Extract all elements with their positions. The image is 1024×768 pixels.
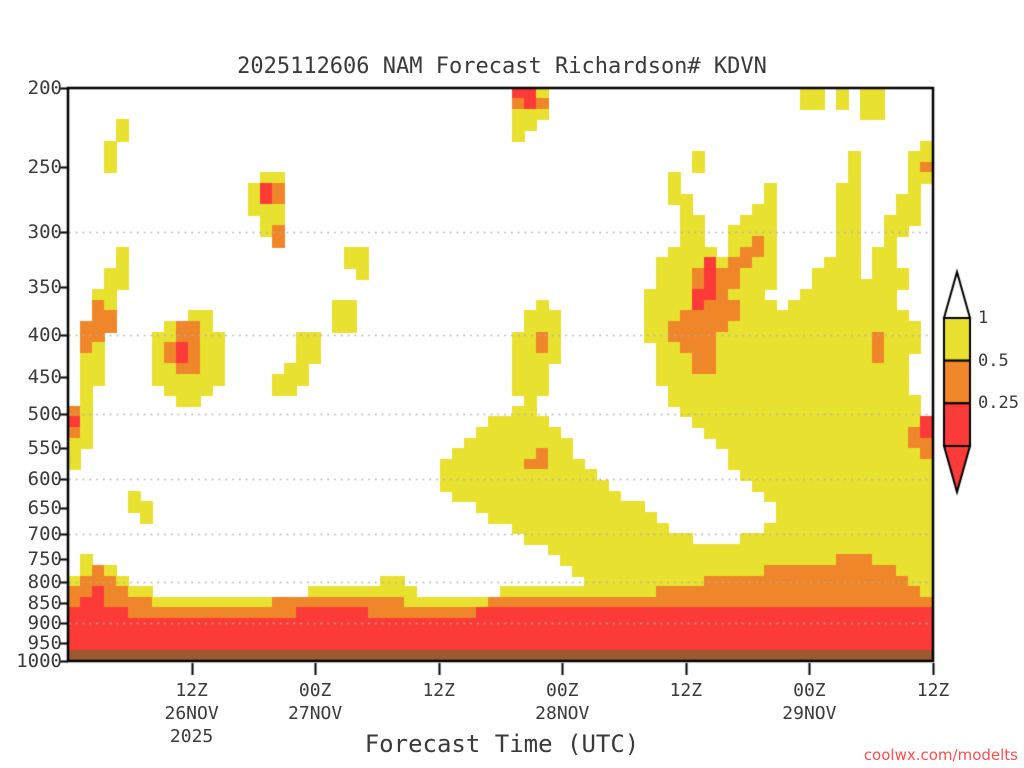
x-axis-tick-line: 29NOV bbox=[729, 702, 889, 725]
page-title: 2025112606 NAM Forecast Richardson# KDVN bbox=[0, 54, 1004, 79]
x-axis-tick-line: 2025 bbox=[112, 725, 272, 748]
watermark-link[interactable]: coolwx.com/modelts bbox=[864, 746, 1018, 764]
richardson-number-heatmap-canvas bbox=[0, 0, 1024, 768]
y-axis-tick-label: 400 bbox=[0, 324, 62, 346]
x-axis-tick-line: 27NOV bbox=[235, 702, 395, 725]
y-axis-tick-label: 850 bbox=[0, 592, 62, 614]
y-axis-tick-label: 350 bbox=[0, 276, 62, 298]
x-axis-tick-line: 12Z bbox=[853, 679, 1013, 702]
chart-page: 2025112606 NAM Forecast Richardson# KDVN… bbox=[0, 0, 1024, 768]
colorbar-tick-label: 0.25 bbox=[978, 393, 1019, 413]
y-axis-tick-label: 600 bbox=[0, 468, 62, 490]
x-axis-tick-line: 28NOV bbox=[482, 702, 642, 725]
y-axis-tick-label: 500 bbox=[0, 403, 62, 425]
y-axis-tick-label: 650 bbox=[0, 497, 62, 519]
colorbar-tick-label: 0.5 bbox=[978, 351, 1009, 371]
y-axis-tick-label: 250 bbox=[0, 156, 62, 178]
x-axis-tick-group: 12Z bbox=[853, 679, 1013, 702]
y-axis-tick-label: 800 bbox=[0, 571, 62, 593]
y-axis-tick-label: 1000 bbox=[0, 650, 62, 672]
y-axis-tick-label: 200 bbox=[0, 77, 62, 99]
y-axis-tick-label: 750 bbox=[0, 548, 62, 570]
colorbar-tick-label: 1 bbox=[978, 308, 988, 328]
y-axis-tick-label: 300 bbox=[0, 221, 62, 243]
y-axis-tick-label: 450 bbox=[0, 366, 62, 388]
y-axis-tick-label: 550 bbox=[0, 437, 62, 459]
y-axis-tick-label: 700 bbox=[0, 523, 62, 545]
